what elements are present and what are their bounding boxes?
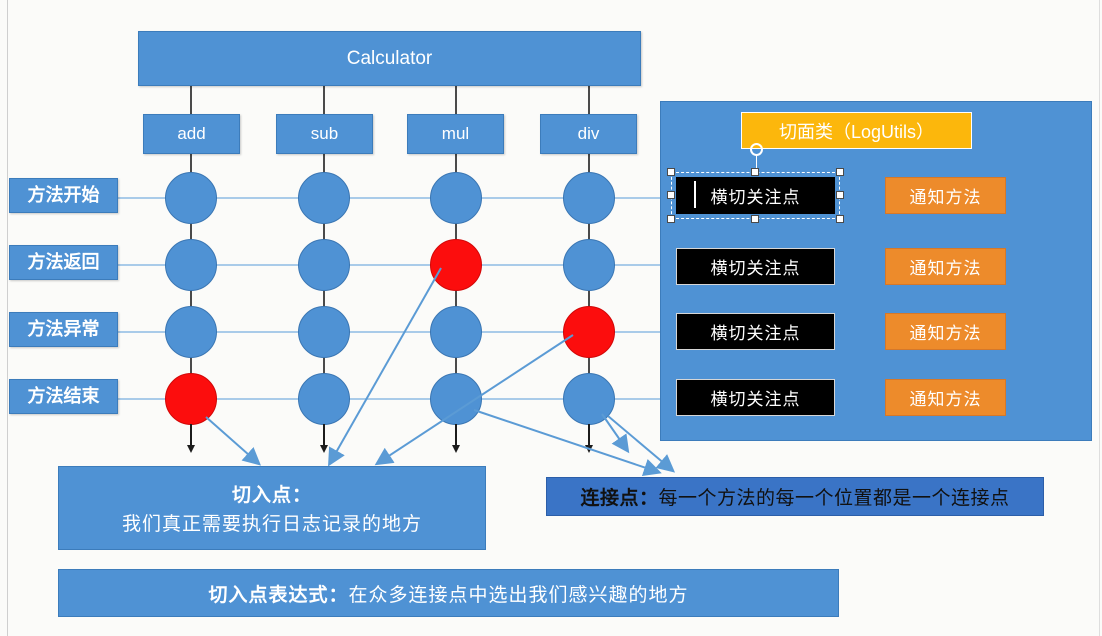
pointcut-description: 我们真正需要执行日志记录的地方 (122, 509, 422, 536)
resize-handle-middle-right[interactable] (836, 191, 844, 199)
node-add-method-start[interactable] (165, 172, 217, 224)
slide-canvas: Calculator add sub mul div 方法开始 方法返回 方法异… (0, 0, 1102, 636)
aspect-class-title[interactable]: 切面类（LogUtils） (741, 112, 972, 149)
node-div-method-exception[interactable] (563, 306, 615, 358)
node-sub-method-return[interactable] (298, 239, 350, 291)
connector-calculator-mul (455, 86, 457, 114)
resize-handle-top-center[interactable] (751, 168, 759, 176)
resize-handle-middle-left[interactable] (667, 191, 675, 199)
stage-label-method-return[interactable]: 方法返回 (9, 245, 118, 280)
resize-handle-bottom-right[interactable] (836, 215, 844, 223)
resize-handle-bottom-left[interactable] (667, 215, 675, 223)
resize-handle-top-right[interactable] (836, 168, 844, 176)
page-right-rule (1099, 0, 1100, 636)
terminal-arrow-add-icon (190, 424, 192, 446)
node-mul-method-return[interactable] (430, 239, 482, 291)
connector-calculator-div (588, 86, 590, 114)
node-div-method-return[interactable] (563, 239, 615, 291)
node-add-method-exception[interactable] (165, 306, 217, 358)
terminal-arrow-mul-icon (455, 424, 457, 446)
stage-label-method-start[interactable]: 方法开始 (9, 178, 118, 213)
advice-method-box-1[interactable]: 通知方法 (885, 177, 1006, 214)
terminal-arrow-div-icon (588, 424, 590, 446)
crosscutting-concern-box-1[interactable]: 横切关注点 (676, 177, 835, 214)
node-sub-method-exception[interactable] (298, 306, 350, 358)
pointcut-expression-title: 切入点表达式： (208, 580, 348, 607)
node-add-method-end[interactable] (165, 373, 217, 425)
crosscutting-concern-box-3[interactable]: 横切关注点 (676, 313, 835, 350)
node-mul-method-end[interactable] (430, 373, 482, 425)
stage-label-method-end[interactable]: 方法结束 (9, 379, 118, 414)
node-mul-method-exception[interactable] (430, 306, 482, 358)
calculator-class-box[interactable]: Calculator (138, 31, 641, 86)
pointcut-expression-description: 在众多连接点中选出我们感兴趣的地方 (349, 580, 689, 607)
method-box-sub[interactable]: sub (276, 114, 373, 154)
resize-handle-top-left[interactable] (667, 168, 675, 176)
text-cursor (694, 181, 696, 208)
page-left-rule (7, 0, 8, 636)
method-box-add[interactable]: add (143, 114, 240, 154)
crosscutting-concern-box-2[interactable]: 横切关注点 (676, 248, 835, 285)
node-sub-method-end[interactable] (298, 373, 350, 425)
method-box-mul[interactable]: mul (407, 114, 504, 154)
resize-handle-bottom-center[interactable] (751, 215, 759, 223)
pointcut-expression-box[interactable]: 切入点表达式： 在众多连接点中选出我们感兴趣的地方 (58, 569, 839, 617)
advice-method-box-2[interactable]: 通知方法 (885, 248, 1006, 285)
terminal-arrow-sub-icon (323, 424, 325, 446)
connector-calculator-add (190, 86, 192, 114)
stage-label-method-exception[interactable]: 方法异常 (9, 312, 118, 347)
node-div-method-start[interactable] (563, 172, 615, 224)
node-div-method-end[interactable] (563, 373, 615, 425)
node-sub-method-start[interactable] (298, 172, 350, 224)
crosscutting-concern-box-4[interactable]: 横切关注点 (676, 379, 835, 416)
advice-method-box-4[interactable]: 通知方法 (885, 379, 1006, 416)
method-box-div[interactable]: div (540, 114, 637, 154)
joinpoint-title: 连接点： (580, 483, 658, 510)
node-add-method-return[interactable] (165, 239, 217, 291)
node-mul-method-start[interactable] (430, 172, 482, 224)
joinpoint-description-box[interactable]: 连接点： 每一个方法的每一个位置都是一个连接点 (546, 477, 1044, 516)
pointcut-description-box[interactable]: 切入点： 我们真正需要执行日志记录的地方 (58, 466, 486, 550)
pointcut-title: 切入点： (232, 480, 312, 507)
rotate-handle-icon[interactable] (750, 143, 763, 156)
connector-calculator-sub (323, 86, 325, 114)
advice-method-box-3[interactable]: 通知方法 (885, 313, 1006, 350)
joinpoint-description: 每一个方法的每一个位置都是一个连接点 (659, 483, 1010, 510)
